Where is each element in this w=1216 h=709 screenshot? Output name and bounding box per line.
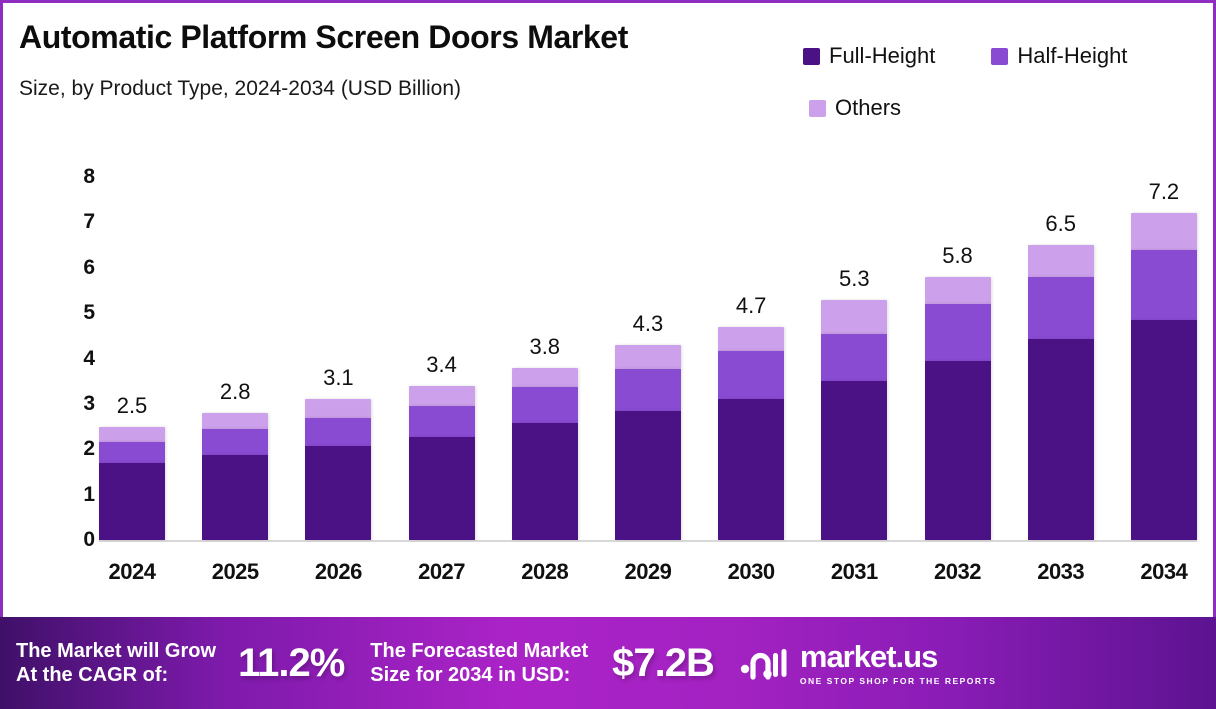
bar-segment-half-height[interactable] — [615, 369, 681, 411]
y-axis-tick: 7 — [55, 210, 95, 234]
bar-segment-half-height[interactable] — [512, 387, 578, 423]
bar-value-label: 7.2 — [1149, 179, 1180, 205]
y-axis-tick: 3 — [55, 392, 95, 416]
market-us-logo-icon — [736, 643, 790, 683]
bar-segment-full-height[interactable] — [821, 381, 887, 540]
bar-segment-others[interactable] — [409, 386, 475, 406]
bar-column[interactable]: 2.8 — [202, 177, 268, 540]
bar-segment-half-height[interactable] — [202, 429, 268, 455]
bar-value-label: 3.8 — [529, 334, 560, 360]
bar-segment-others[interactable] — [1131, 213, 1197, 249]
bar-value-label: 5.3 — [839, 266, 870, 292]
bar-column[interactable]: 3.8 — [512, 177, 578, 540]
bar-segment-full-height[interactable] — [99, 463, 165, 540]
bar-column[interactable]: 3.1 — [305, 177, 371, 540]
bar-segment-half-height[interactable] — [821, 334, 887, 381]
bar-group: 2.52.83.13.43.84.34.75.35.86.57.2 — [99, 177, 1197, 540]
bar-value-label: 3.4 — [426, 352, 457, 378]
bar-segment-full-height[interactable] — [1131, 320, 1197, 540]
bar-segment-full-height[interactable] — [409, 437, 475, 540]
chart-legend: Full-Height Half-Height Others — [803, 43, 1203, 121]
bar-column[interactable]: 4.7 — [718, 177, 784, 540]
bar-value-label: 3.1 — [323, 365, 354, 391]
forecast-caption: The Forecasted Market Size for 2034 in U… — [370, 639, 588, 688]
bar-segment-others[interactable] — [99, 427, 165, 442]
x-axis-tick: 2025 — [202, 559, 268, 593]
legend-label: Half-Height — [1017, 43, 1127, 69]
footer-banner: The Market will Grow At the CAGR of: 11.… — [0, 617, 1216, 709]
cagr-caption-line1: The Market will Grow — [16, 639, 216, 663]
bar-segment-full-height[interactable] — [1028, 339, 1094, 540]
chart-subtitle: Size, by Product Type, 2024-2034 (USD Bi… — [19, 77, 461, 101]
cagr-caption-line2: At the CAGR of: — [16, 663, 216, 687]
bar-value-label: 5.8 — [942, 243, 973, 269]
bar-value-label: 6.5 — [1045, 211, 1076, 237]
legend-label: Full-Height — [829, 43, 935, 69]
bar-segment-half-height[interactable] — [718, 351, 784, 399]
x-axis-tick: 2024 — [99, 559, 165, 593]
legend-item-others[interactable]: Others — [809, 95, 901, 121]
x-axis-line — [99, 540, 1197, 542]
bar-segment-full-height[interactable] — [202, 455, 268, 540]
bar-segment-others[interactable] — [925, 277, 991, 304]
bar-segment-full-height[interactable] — [305, 446, 371, 540]
x-axis-tick: 2030 — [718, 559, 784, 593]
x-axis: 2024202520262027202820292030203120322033… — [99, 559, 1197, 593]
bar-segment-others[interactable] — [615, 345, 681, 369]
legend-item-full-height[interactable]: Full-Height — [803, 43, 935, 69]
brand-logo-text: market.us ONE STOP SHOP FOR THE REPORTS — [800, 641, 997, 686]
bar-column[interactable]: 3.4 — [409, 177, 475, 540]
bar-segment-full-height[interactable] — [718, 399, 784, 540]
plot-area: 2.52.83.13.43.84.34.75.35.86.57.2 — [99, 177, 1197, 540]
bar-column[interactable]: 6.5 — [1028, 177, 1094, 540]
legend-swatch-icon — [991, 48, 1008, 65]
bar-column[interactable]: 2.5 — [99, 177, 165, 540]
legend-swatch-icon — [809, 100, 826, 117]
x-axis-tick: 2026 — [305, 559, 371, 593]
bar-segment-half-height[interactable] — [99, 442, 165, 463]
infographic-root: Automatic Platform Screen Doors Market S… — [0, 0, 1216, 709]
y-axis-tick: 2 — [55, 437, 95, 461]
x-axis-tick: 2031 — [821, 559, 887, 593]
x-axis-tick: 2029 — [615, 559, 681, 593]
forecast-caption-line2: Size for 2034 in USD: — [370, 663, 588, 687]
bar-segment-full-height[interactable] — [512, 423, 578, 540]
brand-name: market.us — [800, 641, 997, 672]
bar-value-label: 4.7 — [736, 293, 767, 319]
bar-segment-full-height[interactable] — [925, 361, 991, 540]
bar-value-label: 4.3 — [633, 311, 664, 337]
bar-segment-others[interactable] — [512, 368, 578, 388]
x-axis-tick: 2033 — [1028, 559, 1094, 593]
y-axis-tick: 5 — [55, 301, 95, 325]
x-axis-tick: 2032 — [925, 559, 991, 593]
x-axis-tick: 2034 — [1131, 559, 1197, 593]
bar-value-label: 2.5 — [117, 393, 148, 419]
x-axis-tick: 2027 — [409, 559, 475, 593]
bar-segment-full-height[interactable] — [615, 411, 681, 540]
bar-segment-half-height[interactable] — [409, 406, 475, 437]
y-axis-tick: 1 — [55, 483, 95, 507]
bar-segment-others[interactable] — [1028, 245, 1094, 277]
bar-segment-others[interactable] — [718, 327, 784, 352]
y-axis-tick: 8 — [55, 165, 95, 189]
bar-value-label: 2.8 — [220, 379, 251, 405]
bar-segment-half-height[interactable] — [1028, 277, 1094, 339]
bar-segment-half-height[interactable] — [925, 304, 991, 361]
legend-item-half-height[interactable]: Half-Height — [991, 43, 1127, 69]
brand-tagline: ONE STOP SHOP FOR THE REPORTS — [800, 676, 997, 686]
bar-column[interactable]: 7.2 — [1131, 177, 1197, 540]
y-axis-tick: 4 — [55, 347, 95, 371]
cagr-value: 11.2% — [238, 641, 344, 686]
forecast-caption-line1: The Forecasted Market — [370, 639, 588, 663]
y-axis-tick: 6 — [55, 256, 95, 280]
legend-row-primary: Full-Height Half-Height — [803, 43, 1203, 69]
bar-segment-half-height[interactable] — [305, 418, 371, 447]
brand-logo[interactable]: market.us ONE STOP SHOP FOR THE REPORTS — [736, 641, 997, 686]
bar-column[interactable]: 5.3 — [821, 177, 887, 540]
forecast-value: $7.2B — [612, 641, 714, 686]
legend-row-secondary: Others — [803, 95, 1203, 121]
bar-segment-others[interactable] — [305, 399, 371, 417]
bar-segment-others[interactable] — [821, 300, 887, 334]
bar-segment-half-height[interactable] — [1131, 250, 1197, 320]
x-axis-tick: 2028 — [512, 559, 578, 593]
bar-segment-others[interactable] — [202, 413, 268, 429]
page-title: Automatic Platform Screen Doors Market — [19, 19, 628, 56]
legend-swatch-icon — [803, 48, 820, 65]
bar-column[interactable]: 4.3 — [615, 177, 681, 540]
y-axis: 012345678 — [55, 163, 95, 553]
y-axis-tick: 0 — [55, 528, 95, 552]
bar-column[interactable]: 5.8 — [925, 177, 991, 540]
cagr-caption: The Market will Grow At the CAGR of: — [16, 639, 216, 688]
legend-label: Others — [835, 95, 901, 121]
